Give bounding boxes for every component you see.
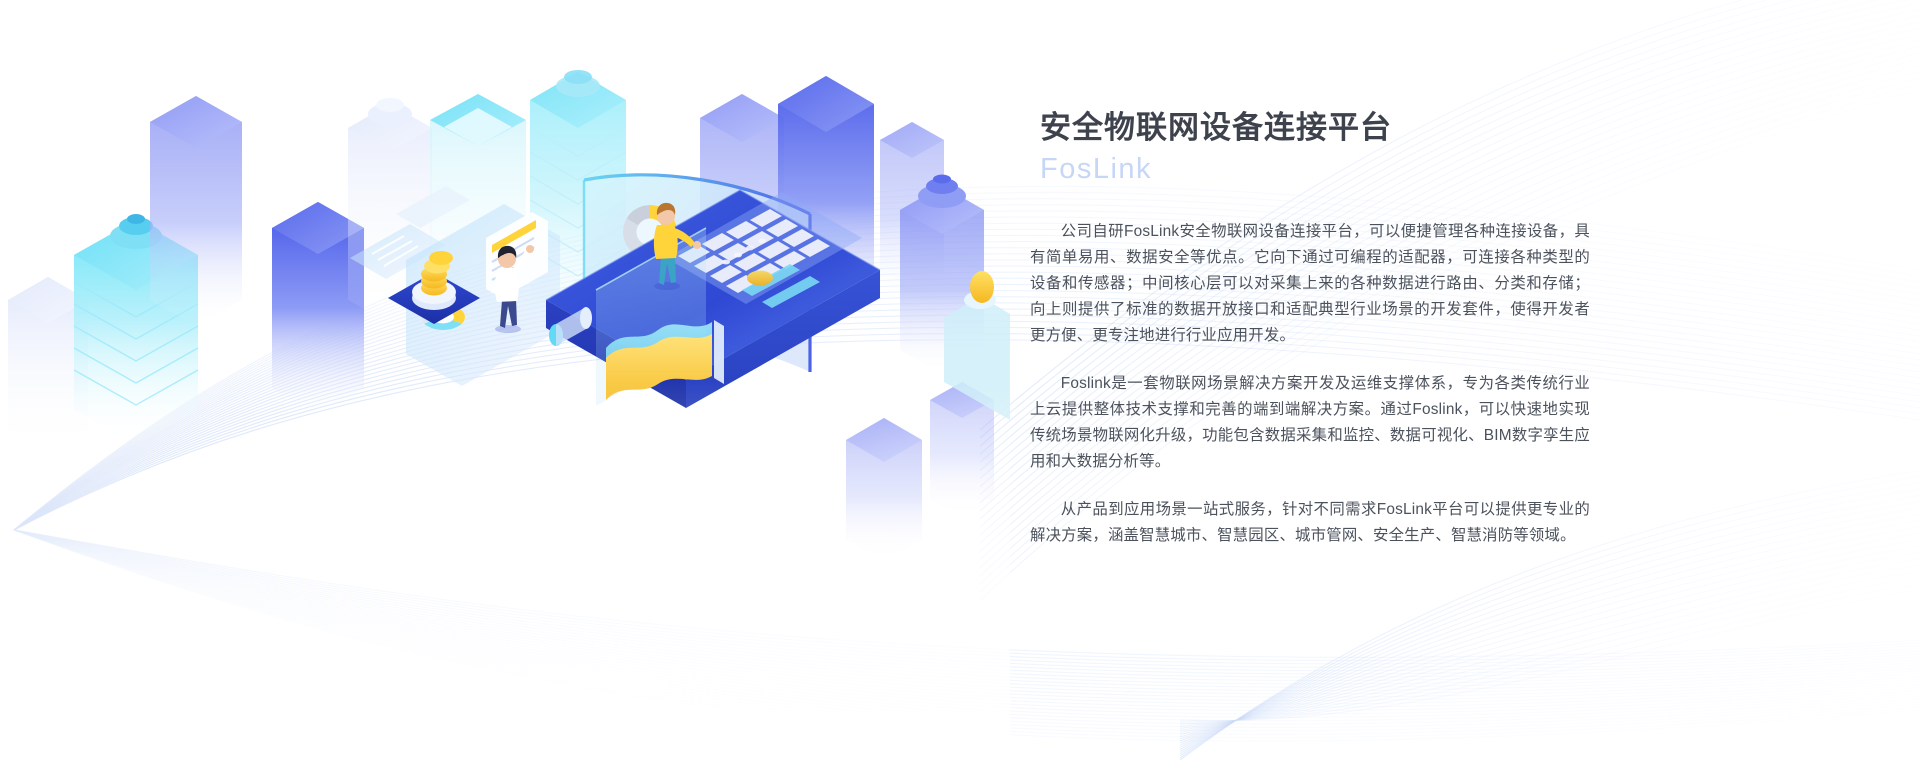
paragraph-3: 从产品到应用场景一站式服务，针对不同需求FosLink平台可以提供更专业的解决方… bbox=[1030, 497, 1590, 549]
illustration-column bbox=[0, 0, 1010, 760]
page-title: 安全物联网设备连接平台 bbox=[1040, 108, 1920, 149]
page-root: 安全物联网设备连接平台 FosLink 公司自研FosLink安全物联网设备连接… bbox=[0, 0, 1920, 760]
tower-lavender-slab bbox=[150, 96, 242, 326]
title-block: 安全物联网设备连接平台 FosLink bbox=[1040, 108, 1920, 189]
content-column: 安全物联网设备连接平台 FosLink 公司自研FosLink安全物联网设备连接… bbox=[1010, 0, 1920, 549]
coin-on-board bbox=[747, 271, 773, 286]
paragraph-2: Foslink是一套物联网场景解决方案开发及运维支撑体系，专为各类传统行业上云提… bbox=[1030, 371, 1590, 475]
body-copy: 公司自研FosLink安全物联网设备连接平台，可以便捷管理各种连接设备，具有简单… bbox=[1030, 219, 1590, 549]
page-subtitle: FosLink bbox=[1040, 151, 1920, 189]
isometric-iot-illustration bbox=[0, 0, 1010, 760]
paragraph-1: 公司自研FosLink安全物联网设备连接平台，可以便捷管理各种连接设备，具有简单… bbox=[1030, 219, 1590, 349]
